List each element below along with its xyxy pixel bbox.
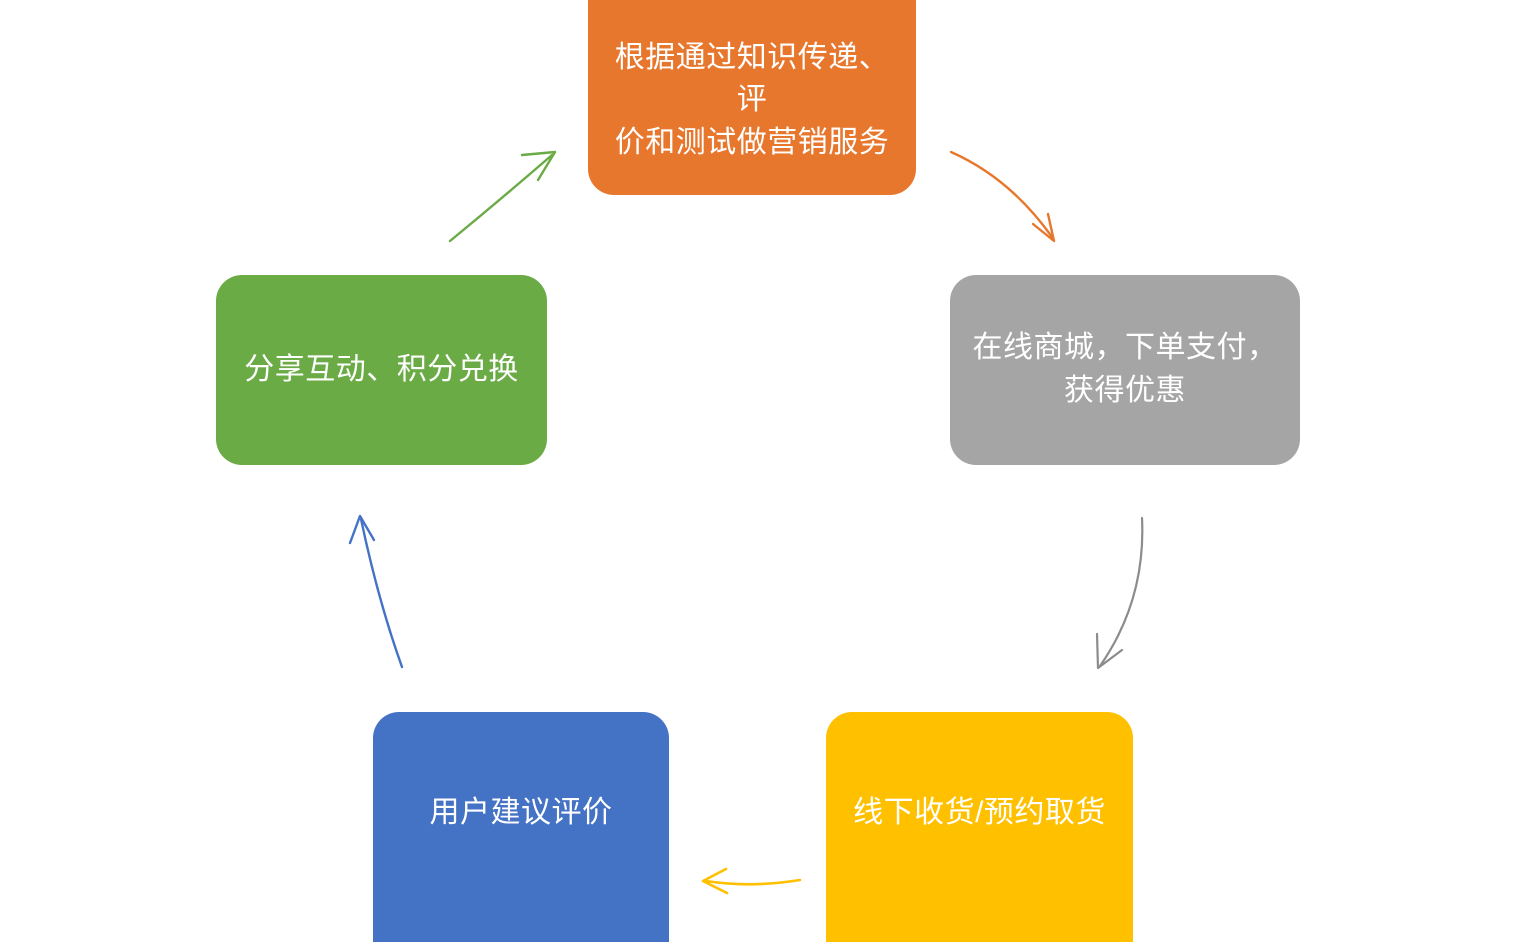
arrow-marketing-to-shop — [951, 152, 1054, 241]
arrow-shop-to-pickup-line — [1100, 518, 1142, 666]
arrow-pickup-to-review — [703, 869, 800, 893]
arrow-share-to-marketing-line — [450, 155, 552, 241]
arrow-review-to-share-line — [361, 519, 402, 667]
cycle-node-marketing[interactable]: 根据通过知识传递、评 价和测试做营销服务 — [588, 0, 916, 195]
arrow-shop-to-pickup — [1097, 518, 1142, 668]
cycle-node-marketing-label: 根据通过知识传递、评 价和测试做营销服务 — [606, 37, 898, 165]
arrow-pickup-to-review-line — [706, 880, 800, 884]
arrow-marketing-to-shop-head — [1033, 214, 1054, 241]
arrow-marketing-to-shop-line — [951, 152, 1052, 237]
cycle-node-share-label: 分享互动、积分兑换 — [244, 349, 519, 392]
cycle-node-pickup-label: 线下收货/预约取货 — [853, 792, 1106, 835]
cycle-node-review[interactable]: 用户建议评价 — [373, 712, 669, 942]
cycle-node-review-label: 用户建议评价 — [430, 792, 613, 835]
arrow-shop-to-pickup-head — [1097, 634, 1122, 668]
diagram-canvas: 根据通过知识传递、评 价和测试做营销服务 在线商城，下单支付， 获得优惠 线下收… — [0, 0, 1514, 920]
arrow-pickup-to-review-head — [703, 869, 727, 893]
arrow-share-to-marketing — [450, 152, 555, 241]
cycle-node-pickup[interactable]: 线下收货/预约取货 — [826, 712, 1133, 942]
arrow-review-to-share-head — [350, 516, 374, 543]
cycle-node-shop[interactable]: 在线商城，下单支付， 获得优惠 — [950, 275, 1300, 465]
cycle-node-share[interactable]: 分享互动、积分兑换 — [216, 275, 547, 465]
cycle-node-shop-label: 在线商城，下单支付， 获得优惠 — [973, 327, 1278, 412]
arrow-review-to-share — [350, 516, 402, 667]
arrow-share-to-marketing-head — [522, 152, 555, 180]
